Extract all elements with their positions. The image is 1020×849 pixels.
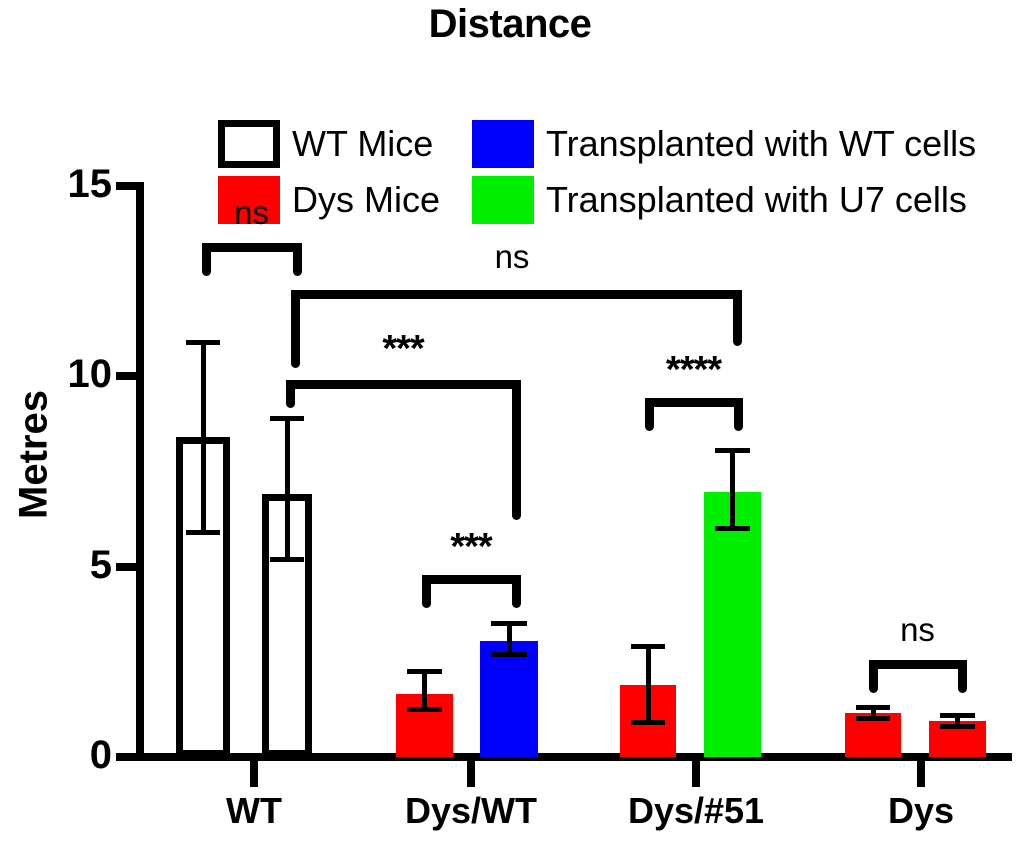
significance-bracket-top xyxy=(202,243,302,252)
y-tick-10 xyxy=(116,372,138,380)
significance-bracket-leg-right xyxy=(733,290,742,346)
significance-bracket-leg-left xyxy=(202,243,211,276)
significance-bracket-top xyxy=(869,660,967,669)
y-axis-line xyxy=(136,182,144,761)
error-bar-cap-lower xyxy=(491,652,527,657)
significance-bracket-top xyxy=(291,290,742,299)
significance-label-b0: ns xyxy=(234,196,269,229)
error-bar-stem xyxy=(646,647,651,723)
significance-bracket-leg-left xyxy=(869,660,878,693)
x-tick-label-dys: Dys xyxy=(888,790,954,832)
significance-bracket-leg-right xyxy=(512,380,521,520)
significance-bracket-leg-left xyxy=(286,380,295,408)
error-bar-stem xyxy=(422,671,427,709)
significance-bracket-leg-right xyxy=(734,398,743,431)
chart-root: Distance WT Mice Dys Mice Transplanted w… xyxy=(0,0,1020,849)
error-bar-cap-lower xyxy=(856,716,891,721)
y-tick-0 xyxy=(116,753,138,761)
significance-bracket-top xyxy=(422,575,521,584)
error-bar-cap-lower xyxy=(940,724,975,729)
error-bar-cap-upper xyxy=(270,416,304,421)
error-bar-cap-upper xyxy=(631,644,666,649)
error-bar-stem xyxy=(285,418,290,559)
y-tick-label-0: 0 xyxy=(0,735,112,775)
significance-label-b2: *** xyxy=(382,330,423,368)
significance-bracket-leg-left xyxy=(422,575,431,608)
error-bar-cap-upper xyxy=(715,448,750,453)
error-bar-cap-lower xyxy=(631,720,666,725)
plot-area: Metres 051015 WTDys/WTDys/#51Dys nsns***… xyxy=(0,0,1020,849)
x-tick-Dys/WT xyxy=(467,761,475,787)
significance-bracket-leg-right xyxy=(512,575,521,608)
x-tick-label-wt: WT xyxy=(226,790,282,832)
significance-label-b4: **** xyxy=(666,351,721,389)
bar-dys-wt-1 xyxy=(480,641,538,757)
error-bar-stem xyxy=(507,624,512,654)
error-bar-cap-upper xyxy=(491,621,527,626)
significance-bracket-leg-right xyxy=(293,243,302,276)
significance-bracket-leg-left xyxy=(291,290,300,368)
error-bar-cap-upper xyxy=(856,705,891,710)
significance-bracket-top xyxy=(286,380,521,389)
x-tick-Dys xyxy=(917,761,925,787)
bar-dys--51-1 xyxy=(704,492,761,757)
y-tick-15 xyxy=(116,182,138,190)
error-bar-cap-lower xyxy=(186,530,220,535)
significance-label-b3: *** xyxy=(450,528,491,566)
significance-bracket-top xyxy=(645,398,743,407)
error-bar-cap-upper xyxy=(940,713,975,718)
significance-label-b5: ns xyxy=(900,613,935,646)
y-tick-label-15: 15 xyxy=(0,164,112,204)
x-tick-label-dys-wt: Dys/WT xyxy=(405,790,537,832)
significance-bracket-leg-left xyxy=(645,398,654,431)
y-tick-5 xyxy=(116,563,138,571)
y-tick-label-10: 10 xyxy=(0,354,112,394)
error-bar-stem xyxy=(730,451,735,529)
y-tick-label-5: 5 xyxy=(0,545,112,585)
error-bar-cap-upper xyxy=(407,669,442,674)
x-tick-Dys/#51 xyxy=(692,761,700,787)
error-bar-cap-lower xyxy=(407,707,442,712)
significance-label-b1: ns xyxy=(495,240,530,273)
error-bar-stem xyxy=(201,342,206,532)
error-bar-cap-lower xyxy=(715,526,750,531)
significance-bracket-leg-right xyxy=(958,660,967,693)
x-tick-WT xyxy=(250,761,258,787)
error-bar-cap-upper xyxy=(186,340,220,345)
x-tick-label-dys--51: Dys/#51 xyxy=(628,790,764,832)
error-bar-cap-lower xyxy=(270,557,304,562)
